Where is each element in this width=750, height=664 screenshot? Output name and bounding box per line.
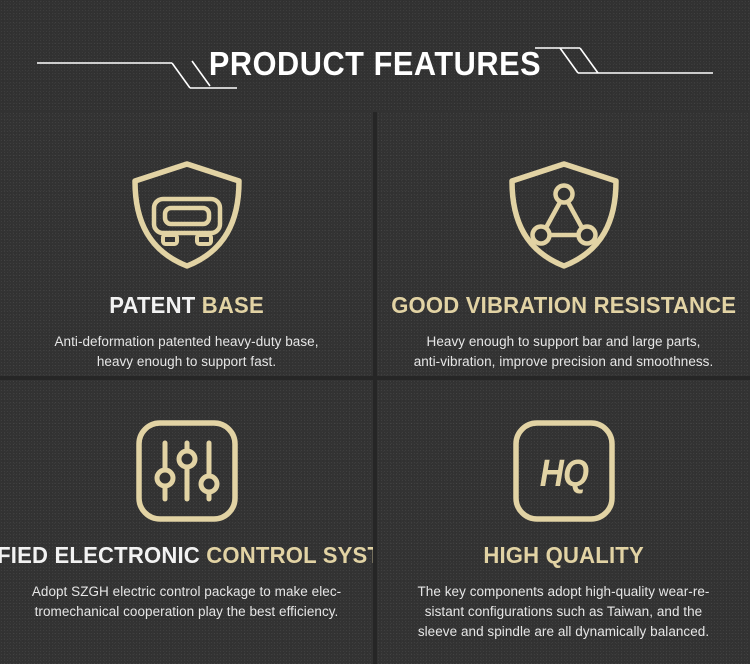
sliders-square-icon bbox=[134, 418, 240, 524]
shield-base-icon bbox=[125, 159, 249, 271]
description-line: anti-vibration, improve precision and sm… bbox=[414, 352, 714, 372]
feature-heading: HIGH QUALITY bbox=[483, 541, 644, 569]
feature-description: Adopt SZGH electric control package to m… bbox=[32, 582, 341, 622]
shield-triangle-nodes-icon bbox=[502, 159, 626, 271]
feature-heading: GOOD VIBRATION RESISTANCE bbox=[391, 291, 736, 319]
description-line: Heavy enough to support bar and large pa… bbox=[414, 332, 714, 352]
feature-heading-gold: GOOD VIBRATION RESISTANCE bbox=[391, 292, 736, 318]
feature-card-high-quality[interactable]: HQ HIGH QUALITY The key components adopt… bbox=[377, 380, 750, 664]
feature-card-patent-base[interactable]: PATENT BASE Anti-deformation patented he… bbox=[0, 112, 373, 376]
description-line: sleeve and spindle are all dynamically b… bbox=[418, 622, 710, 642]
description-line: heavy enough to support fast. bbox=[54, 352, 318, 372]
feature-heading: UNIFIED ELECTRONIC CONTROL SYSTEM bbox=[0, 541, 373, 569]
feature-card-unified-electronic-control-system[interactable]: UNIFIED ELECTRONIC CONTROL SYSTEM Adopt … bbox=[0, 380, 373, 664]
product-features-page: PRODUCT FEATURES PATENT BASE An bbox=[0, 0, 750, 664]
description-line: sistant configurations such as Taiwan, a… bbox=[418, 602, 710, 622]
hq-badge-icon: HQ bbox=[511, 418, 617, 524]
feature-card-good-vibration-resistance[interactable]: GOOD VIBRATION RESISTANCE Heavy enough t… bbox=[377, 112, 750, 376]
feature-heading-gold: BASE bbox=[202, 292, 264, 318]
feature-description: The key components adopt high-quality we… bbox=[418, 582, 710, 642]
feature-heading-white: PATENT bbox=[109, 292, 202, 318]
page-title: PRODUCT FEATURES bbox=[26, 44, 724, 84]
feature-description: Anti-deformation patented heavy-duty bas… bbox=[54, 332, 318, 372]
description-line: tromechanical cooperation play the best … bbox=[32, 602, 341, 622]
description-line: Adopt SZGH electric control package to m… bbox=[32, 582, 341, 602]
description-line: The key components adopt high-quality we… bbox=[418, 582, 710, 602]
feature-heading-white: UNIFIED ELECTRONIC bbox=[0, 542, 206, 568]
feature-heading: PATENT BASE bbox=[109, 291, 264, 319]
description-line: Anti-deformation patented heavy-duty bas… bbox=[54, 332, 318, 352]
feature-heading-gold: HIGH QUALITY bbox=[483, 542, 644, 568]
feature-description: Heavy enough to support bar and large pa… bbox=[414, 332, 714, 372]
svg-text:HQ: HQ bbox=[539, 452, 588, 494]
feature-heading-gold: CONTROL SYSTEM bbox=[206, 542, 373, 568]
page-header: PRODUCT FEATURES bbox=[0, 0, 750, 112]
features-grid: PATENT BASE Anti-deformation patented he… bbox=[0, 112, 750, 664]
